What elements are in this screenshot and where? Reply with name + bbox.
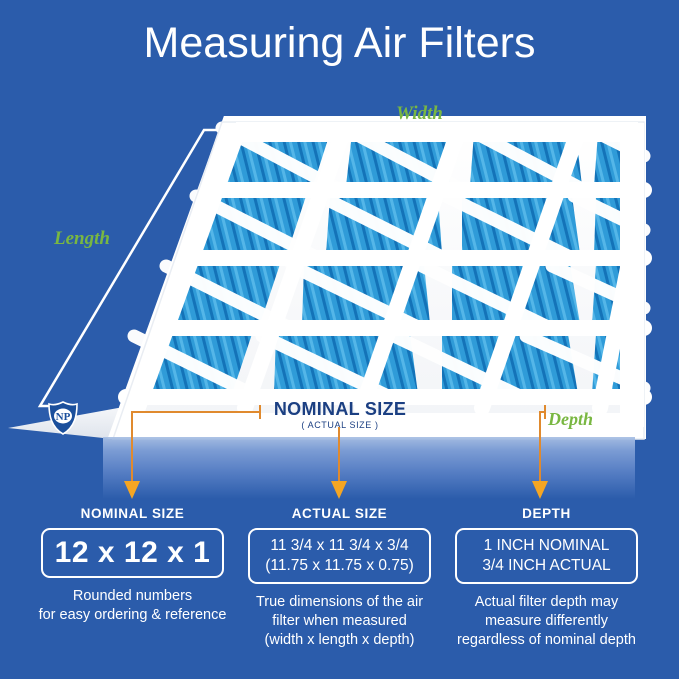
card-value-line: 11 3/4 x 11 3/4 x 3/4 <box>270 536 408 556</box>
card-value-box: 1 INCH NOMINAL 3/4 INCH ACTUAL <box>455 528 638 584</box>
card-caption: Rounded numbers for easy ordering & refe… <box>29 587 236 625</box>
width-label: Width <box>396 103 443 125</box>
card-value-box: 12 x 12 x 1 <box>41 528 224 578</box>
card-caption: True dimensions of the air filter when m… <box>236 593 443 650</box>
summary-cards: NOMINAL SIZE 12 x 12 x 1 Rounded numbers… <box>0 506 679 650</box>
card-title: NOMINAL SIZE <box>29 506 236 521</box>
card-caption-line: filter when measured <box>236 612 443 631</box>
infographic-page: Measuring Air Filters <box>0 0 679 679</box>
card-title: DEPTH <box>443 506 650 521</box>
card-nominal-size: NOMINAL SIZE 12 x 12 x 1 Rounded numbers… <box>29 506 236 650</box>
card-value-line: (11.75 x 11.75 x 0.75) <box>265 556 414 576</box>
card-caption-line: True dimensions of the air <box>236 593 443 612</box>
card-actual-size: ACTUAL SIZE 11 3/4 x 11 3/4 x 3/4 (11.75… <box>236 506 443 650</box>
card-value-line: 1 INCH NOMINAL <box>484 536 610 556</box>
card-caption-line: Rounded numbers <box>29 587 236 606</box>
card-title: ACTUAL SIZE <box>236 506 443 521</box>
depth-bracket <box>628 123 644 427</box>
card-caption-line: Actual filter depth may <box>443 593 650 612</box>
card-caption-line: measure differently <box>443 612 650 631</box>
card-depth: DEPTH 1 INCH NOMINAL 3/4 INCH ACTUAL Act… <box>443 506 650 650</box>
length-bracket <box>8 128 228 413</box>
card-caption-line: (width x length x depth) <box>236 631 443 650</box>
callout-connectors <box>0 395 679 505</box>
card-caption-line: for easy ordering & reference <box>29 606 236 625</box>
page-title: Measuring Air Filters <box>0 22 679 65</box>
card-caption-line: regardless of nominal depth <box>443 631 650 650</box>
card-value-line: 3/4 INCH ACTUAL <box>482 556 610 576</box>
card-caption: Actual filter depth may measure differen… <box>443 593 650 650</box>
card-value-line: 12 x 12 x 1 <box>55 536 211 570</box>
card-value-box: 11 3/4 x 11 3/4 x 3/4 (11.75 x 11.75 x 0… <box>248 528 431 584</box>
length-label: Length <box>54 228 110 250</box>
